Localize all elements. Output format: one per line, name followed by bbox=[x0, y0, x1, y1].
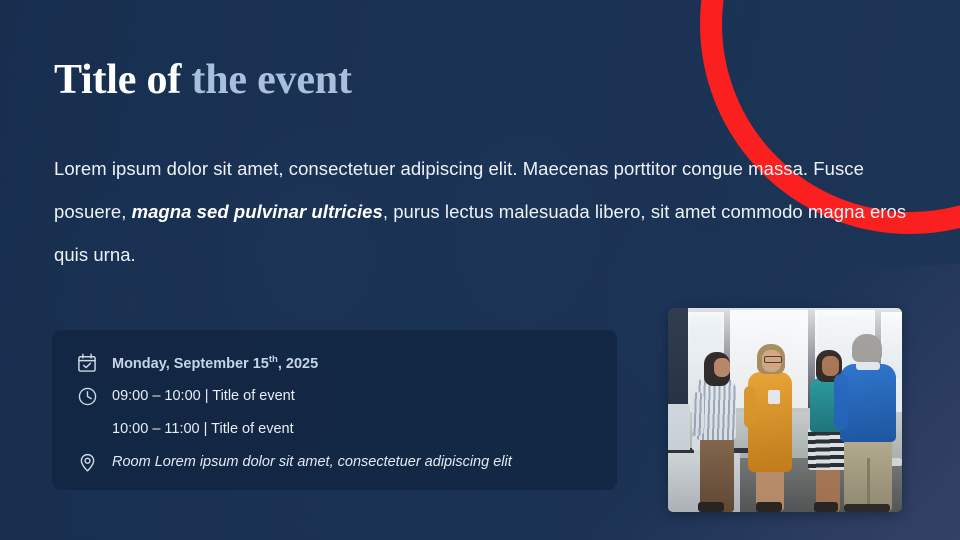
event-date-year: , 2025 bbox=[278, 356, 318, 372]
calendar-check-icon bbox=[74, 350, 100, 376]
event-session-text: 09:00 – 10:00 | Title of event bbox=[112, 388, 295, 404]
body-paragraph: Lorem ipsum dolor sit amet, consectetuer… bbox=[54, 147, 919, 276]
event-date-ordinal: th bbox=[269, 354, 278, 365]
event-session-row: 09:00 – 10:00 | Title of event bbox=[74, 383, 295, 409]
event-location-row: Room Lorem ipsum dolor sit amet, consect… bbox=[74, 449, 512, 475]
map-pin-icon bbox=[74, 449, 100, 475]
title-main-text: Title of bbox=[54, 57, 191, 103]
title-accent-text: the event bbox=[191, 57, 351, 103]
page-title: Title of the event bbox=[54, 57, 352, 103]
clock-icon bbox=[74, 383, 100, 409]
event-photo bbox=[668, 308, 902, 512]
event-date-main: Monday, September 15 bbox=[112, 356, 269, 372]
event-date-row: Monday, September 15th, 2025 bbox=[74, 350, 318, 376]
presentation-slide: Title of the event Lorem ipsum dolor sit… bbox=[0, 0, 960, 540]
event-info-card: Monday, September 15th, 2025 09:00 – 10:… bbox=[52, 330, 617, 490]
paragraph-emphasis: magna sed pulvinar ultricies bbox=[132, 201, 383, 222]
event-session-text: 10:00 – 11:00 | Title of event bbox=[112, 421, 294, 437]
event-location-text: Room Lorem ipsum dolor sit amet, consect… bbox=[112, 454, 512, 470]
event-date-text: Monday, September 15th, 2025 bbox=[112, 354, 318, 372]
event-session-row: 10:00 – 11:00 | Title of event bbox=[74, 416, 294, 442]
